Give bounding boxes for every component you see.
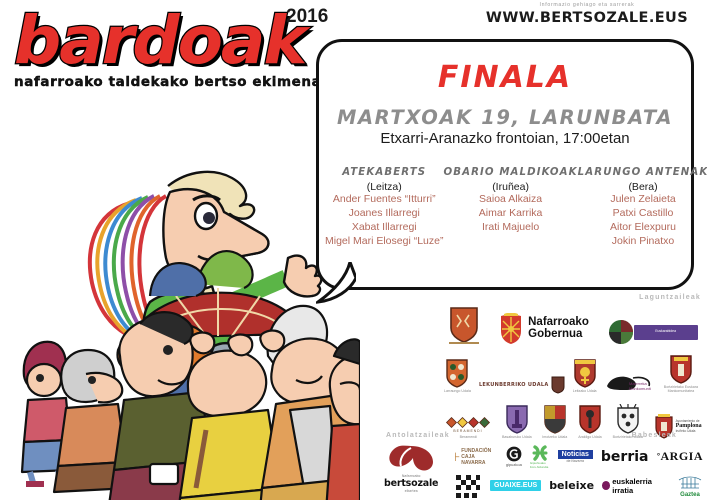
event-headline: FINALA bbox=[319, 60, 691, 95]
team-member: Ander Fuentes “Itturri” bbox=[325, 193, 443, 207]
event-date: MARTXOAK 19, LARUNBATA bbox=[319, 106, 691, 129]
website-url[interactable]: WWW.BERTSOZALE.EUS bbox=[477, 10, 697, 26]
label-babesleak: Babesleak bbox=[632, 432, 677, 439]
team-member: Joanes Illarregi bbox=[325, 207, 443, 221]
logo-fundacion-caja-navarra: ⊦ FUNDACIÓN CAJA NAVARRA bbox=[454, 448, 498, 466]
team-member: Aimar Karrika bbox=[443, 207, 577, 221]
team-column-larungo-antenak: LARUNGO ANTENAK (Bera) Julen Zelaieta Pa… bbox=[578, 167, 707, 248]
cartoon-illustration bbox=[0, 88, 360, 500]
supporters-zone: Laguntzaileak bbox=[440, 292, 707, 452]
logo-bortzirietako: Bortzirietako Euskara Mankomunitatea bbox=[659, 354, 703, 394]
foru-label: Gipuzkoako Foru Aldundia bbox=[530, 461, 550, 469]
page-title: bardoak bbox=[14, 14, 314, 68]
svg-text:Mankomunitatea: Mankomunitatea bbox=[629, 386, 651, 391]
brand-block: bardoak nafarroako taldekako bertso ekim… bbox=[14, 14, 314, 90]
sponsor-row-1: ⊦ FUNDACIÓN CAJA NAVARRA gipuzkoa Gipu bbox=[450, 442, 707, 471]
info-line: Informazio gehiago eta sarrerak bbox=[477, 2, 697, 8]
logo-beleixe: beleixe bbox=[549, 479, 594, 492]
team-name: OBARIO MALDIKOAK bbox=[443, 167, 577, 178]
event-info-panel: FINALA MARTXOAK 19, LARUNBATA Etxarri-Ar… bbox=[316, 39, 694, 290]
logo-nafarroako-gobernua: Nafarroako Gobernua bbox=[498, 313, 589, 345]
teams-list: ATEKABERTS (Leitza) Ander Fuentes “Ittur… bbox=[319, 167, 691, 248]
eus-dot-icon bbox=[602, 481, 610, 490]
logo-caption: Leitzako Udala bbox=[573, 389, 597, 393]
team-member: Patxi Castillo bbox=[578, 207, 707, 221]
team-member: Migel Mari Elosegi “Luze” bbox=[325, 235, 443, 249]
team-member: Saioa Alkaiza bbox=[443, 193, 577, 207]
gaztea-label: Gaztea bbox=[680, 492, 700, 498]
logo-bertsozale-elkartea: Nafarroako bertsozale elkartea bbox=[384, 444, 438, 493]
euskarabidea-bar: Euskarabidea bbox=[634, 325, 698, 340]
logo-guaixe: GUAIXE.EUS bbox=[490, 480, 541, 491]
logo-malerreka: Malerreka Mankomunitatea bbox=[605, 372, 651, 394]
logo-noticias-de-navarra: Noticias de Navarra bbox=[558, 450, 593, 463]
noticias-sub: de Navarra bbox=[566, 459, 584, 463]
website-block: Informazio gehiago eta sarrerak WWW.BERT… bbox=[477, 2, 697, 26]
team-town: (Bera) bbox=[578, 181, 707, 193]
logo-foru-aldundia: Gipuzkoako Foru Aldundia bbox=[530, 445, 550, 469]
logo-shield-generic bbox=[449, 306, 479, 345]
beleixe-label: beleixe bbox=[549, 479, 594, 492]
team-member: Julen Zelaieta bbox=[578, 193, 707, 207]
label-laguntzaileak: Laguntzaileak bbox=[639, 294, 701, 301]
logo-checker bbox=[454, 473, 482, 499]
sponsor-row-2: GUAIXE.EUS beleixe euskalerria irratia bbox=[450, 471, 707, 500]
lekunberri-word: LEKUNBERRIKO UDALA bbox=[479, 382, 549, 388]
logo-euskarabidea: Euskarabidea bbox=[608, 319, 698, 345]
noticias-label: Noticias bbox=[558, 450, 593, 459]
poster-canvas: bardoak nafarroako taldekako bertso ekim… bbox=[0, 0, 707, 500]
logo-leitzako-udala: Leitzako Udala bbox=[573, 358, 597, 393]
logo-argia: °ARGIA bbox=[656, 449, 703, 464]
team-town: (Iruñea) bbox=[443, 181, 577, 193]
team-member: Irati Majuelo bbox=[443, 221, 577, 235]
year-label: 2016 bbox=[286, 6, 328, 28]
logo-gaztea: Gaztea bbox=[677, 474, 703, 498]
logo-caption: Bortzirietako Euskara Mankomunitatea bbox=[659, 385, 703, 394]
logo-larraungo-udala: Larraungo Udala bbox=[444, 358, 471, 393]
bz-bottom: elkartea bbox=[405, 489, 418, 493]
team-name: LARUNGO ANTENAK bbox=[578, 167, 707, 178]
logo-lekunberriko-udala: LEKUNBERRIKO UDALA bbox=[479, 376, 565, 394]
event-venue: Etxarri-Aranazko frontoian, 17:00etan bbox=[319, 130, 691, 147]
berria-label: berria bbox=[601, 449, 649, 465]
argia-label: ARGIA bbox=[660, 449, 703, 464]
label-antolatzaileak: Antolatzaileak bbox=[386, 432, 450, 439]
gipuzkoa-label: gipuzkoa bbox=[506, 462, 522, 467]
fcn-label: FUNDACIÓN CAJA NAVARRA bbox=[461, 448, 498, 466]
team-town: (Leitza) bbox=[325, 181, 443, 193]
logo-caption: Larraungo Udala bbox=[444, 389, 471, 393]
logo-euskalerria-irratia: euskalerria irratia bbox=[602, 477, 669, 495]
eirratia-label: euskalerria irratia bbox=[612, 477, 669, 495]
logo-berria: berria bbox=[601, 449, 649, 465]
speech-bubble-tail bbox=[316, 262, 356, 306]
sponsors-zone: Antolatzaileak Babesleak Nafarroako bert… bbox=[378, 432, 707, 500]
logo-gipuzkoa: gipuzkoa bbox=[506, 446, 522, 467]
team-name: ATEKABERTS bbox=[325, 167, 443, 178]
team-member: Aitor Elexpuru bbox=[578, 221, 707, 235]
gripping-hands bbox=[190, 331, 284, 356]
team-column-obario-maldikoak: OBARIO MALDIKOAK (Iruñea) Saioa Alkaiza … bbox=[443, 167, 577, 248]
guaixe-label: GUAIXE.EUS bbox=[490, 480, 541, 491]
team-member: Xabat Illarregi bbox=[325, 221, 443, 235]
bz-name: bertsozale bbox=[384, 478, 438, 489]
team-column-atekaberts: ATEKABERTS (Leitza) Ander Fuentes “Ittur… bbox=[325, 167, 443, 248]
team-member: Jokin Pinatxo bbox=[578, 235, 707, 249]
nafarroa-line2: Gobernua bbox=[528, 329, 589, 341]
